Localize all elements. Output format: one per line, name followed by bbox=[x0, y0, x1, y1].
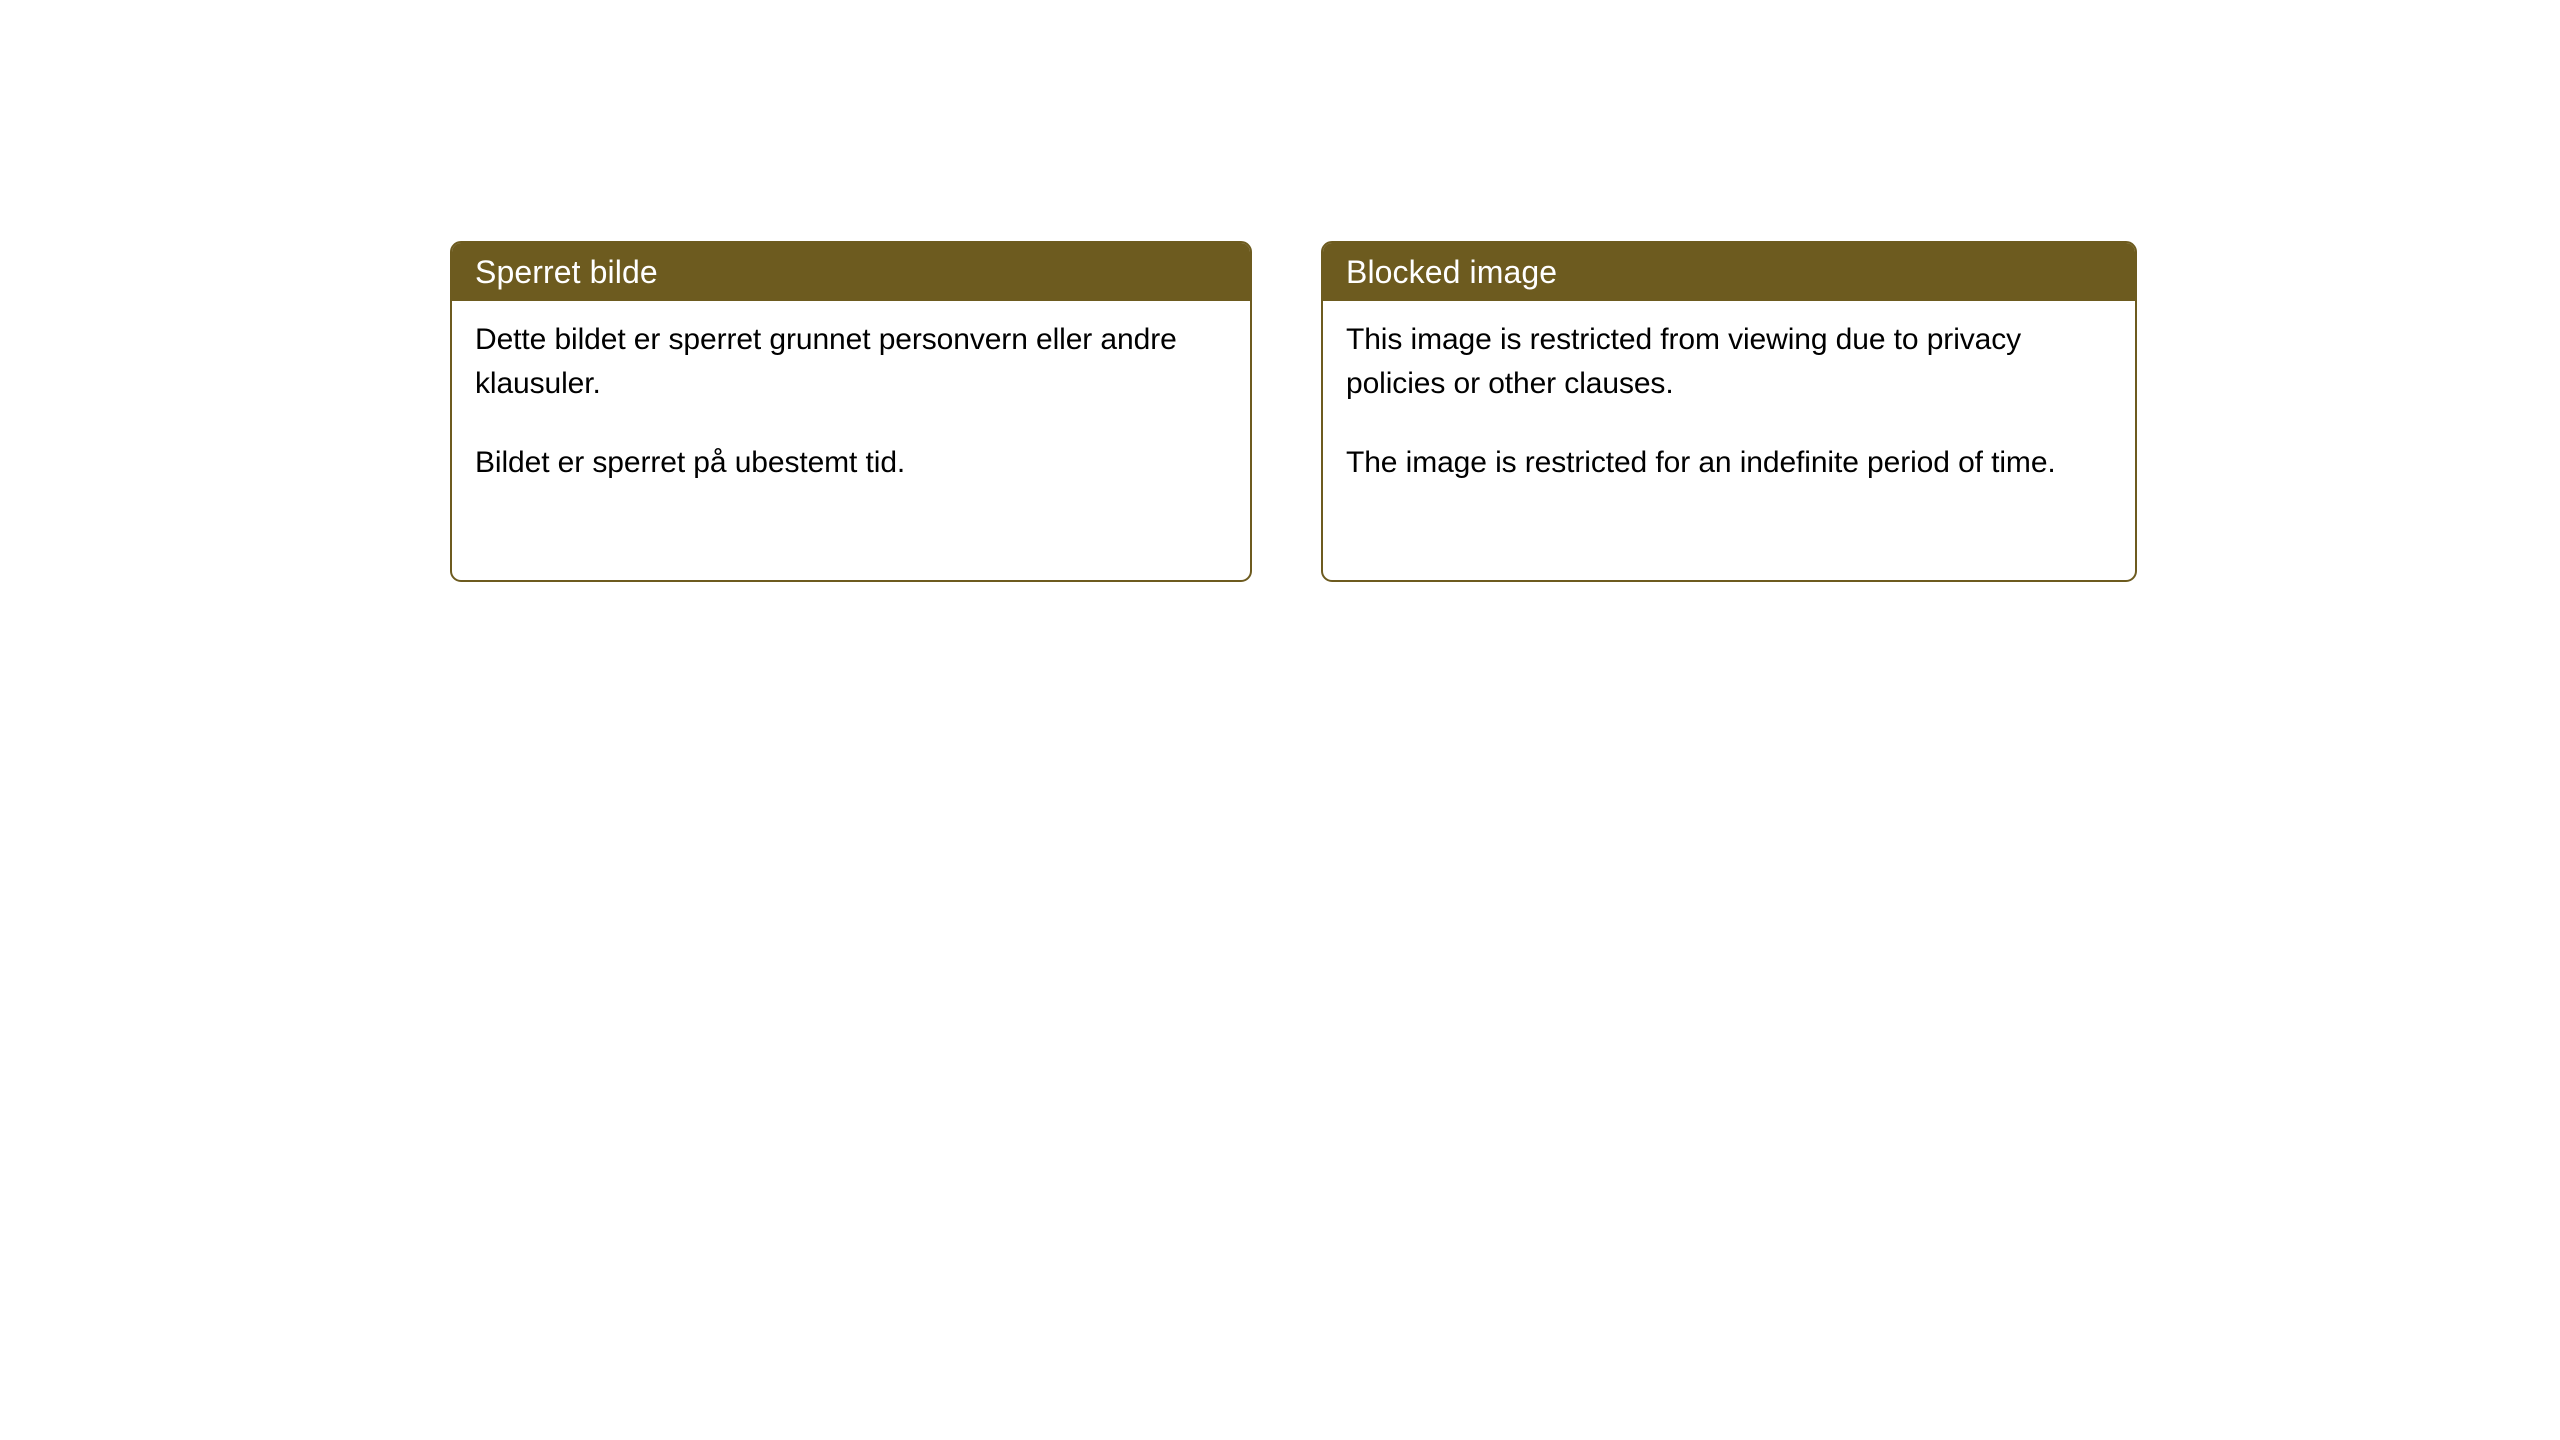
notice-title-english: Blocked image bbox=[1346, 255, 1557, 289]
notice-body-english: This image is restricted from viewing du… bbox=[1323, 301, 2135, 485]
blocked-image-notice-norwegian: Sperret bilde Dette bildet er sperret gr… bbox=[450, 241, 1252, 582]
notice-paragraph-duration-english: The image is restricted for an indefinit… bbox=[1346, 441, 2115, 485]
notice-title-norwegian: Sperret bilde bbox=[475, 255, 658, 289]
notice-body-norwegian: Dette bildet er sperret grunnet personve… bbox=[452, 301, 1250, 485]
notice-paragraph-reason-english: This image is restricted from viewing du… bbox=[1346, 318, 2115, 406]
notice-header-english: Blocked image bbox=[1323, 243, 2135, 301]
notice-paragraph-reason-norwegian: Dette bildet er sperret grunnet personve… bbox=[475, 318, 1230, 406]
notice-header-norwegian: Sperret bilde bbox=[452, 243, 1250, 301]
page-canvas: Sperret bilde Dette bildet er sperret gr… bbox=[0, 0, 2560, 1440]
blocked-image-notice-english: Blocked image This image is restricted f… bbox=[1321, 241, 2137, 582]
notice-paragraph-duration-norwegian: Bildet er sperret på ubestemt tid. bbox=[475, 441, 1230, 485]
